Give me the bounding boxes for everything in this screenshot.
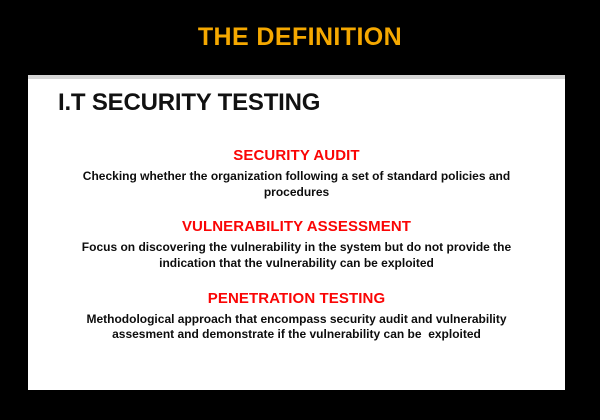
definition-body-penetration-testing: Methodological approach that encompass s…	[62, 312, 532, 344]
definition-body-security-audit: Checking whether the organization follow…	[62, 169, 532, 201]
definition-title-vulnerability-assessment: VULNERABILITY ASSESSMENT	[50, 218, 543, 237]
definition-list: SECURITY AUDIT Checking whether the orga…	[50, 147, 543, 343]
definition-item-penetration-testing: PENETRATION TESTING Methodological appro…	[50, 290, 543, 343]
panel-top-divider	[28, 75, 565, 79]
definition-body-vulnerability-assessment: Focus on discovering the vulnerability i…	[62, 240, 532, 272]
slide-title: THE DEFINITION	[0, 24, 600, 52]
content-panel: I.T SECURITY TESTING SECURITY AUDIT Chec…	[28, 75, 565, 390]
definition-item-vulnerability-assessment: VULNERABILITY ASSESSMENT Focus on discov…	[50, 218, 543, 271]
definition-title-penetration-testing: PENETRATION TESTING	[50, 290, 543, 309]
slide-canvas: THE DEFINITION I.T SECURITY TESTING SECU…	[0, 0, 600, 420]
page-title: I.T SECURITY TESTING	[58, 89, 320, 117]
definition-title-security-audit: SECURITY AUDIT	[50, 147, 543, 166]
definition-item-security-audit: SECURITY AUDIT Checking whether the orga…	[50, 147, 543, 200]
